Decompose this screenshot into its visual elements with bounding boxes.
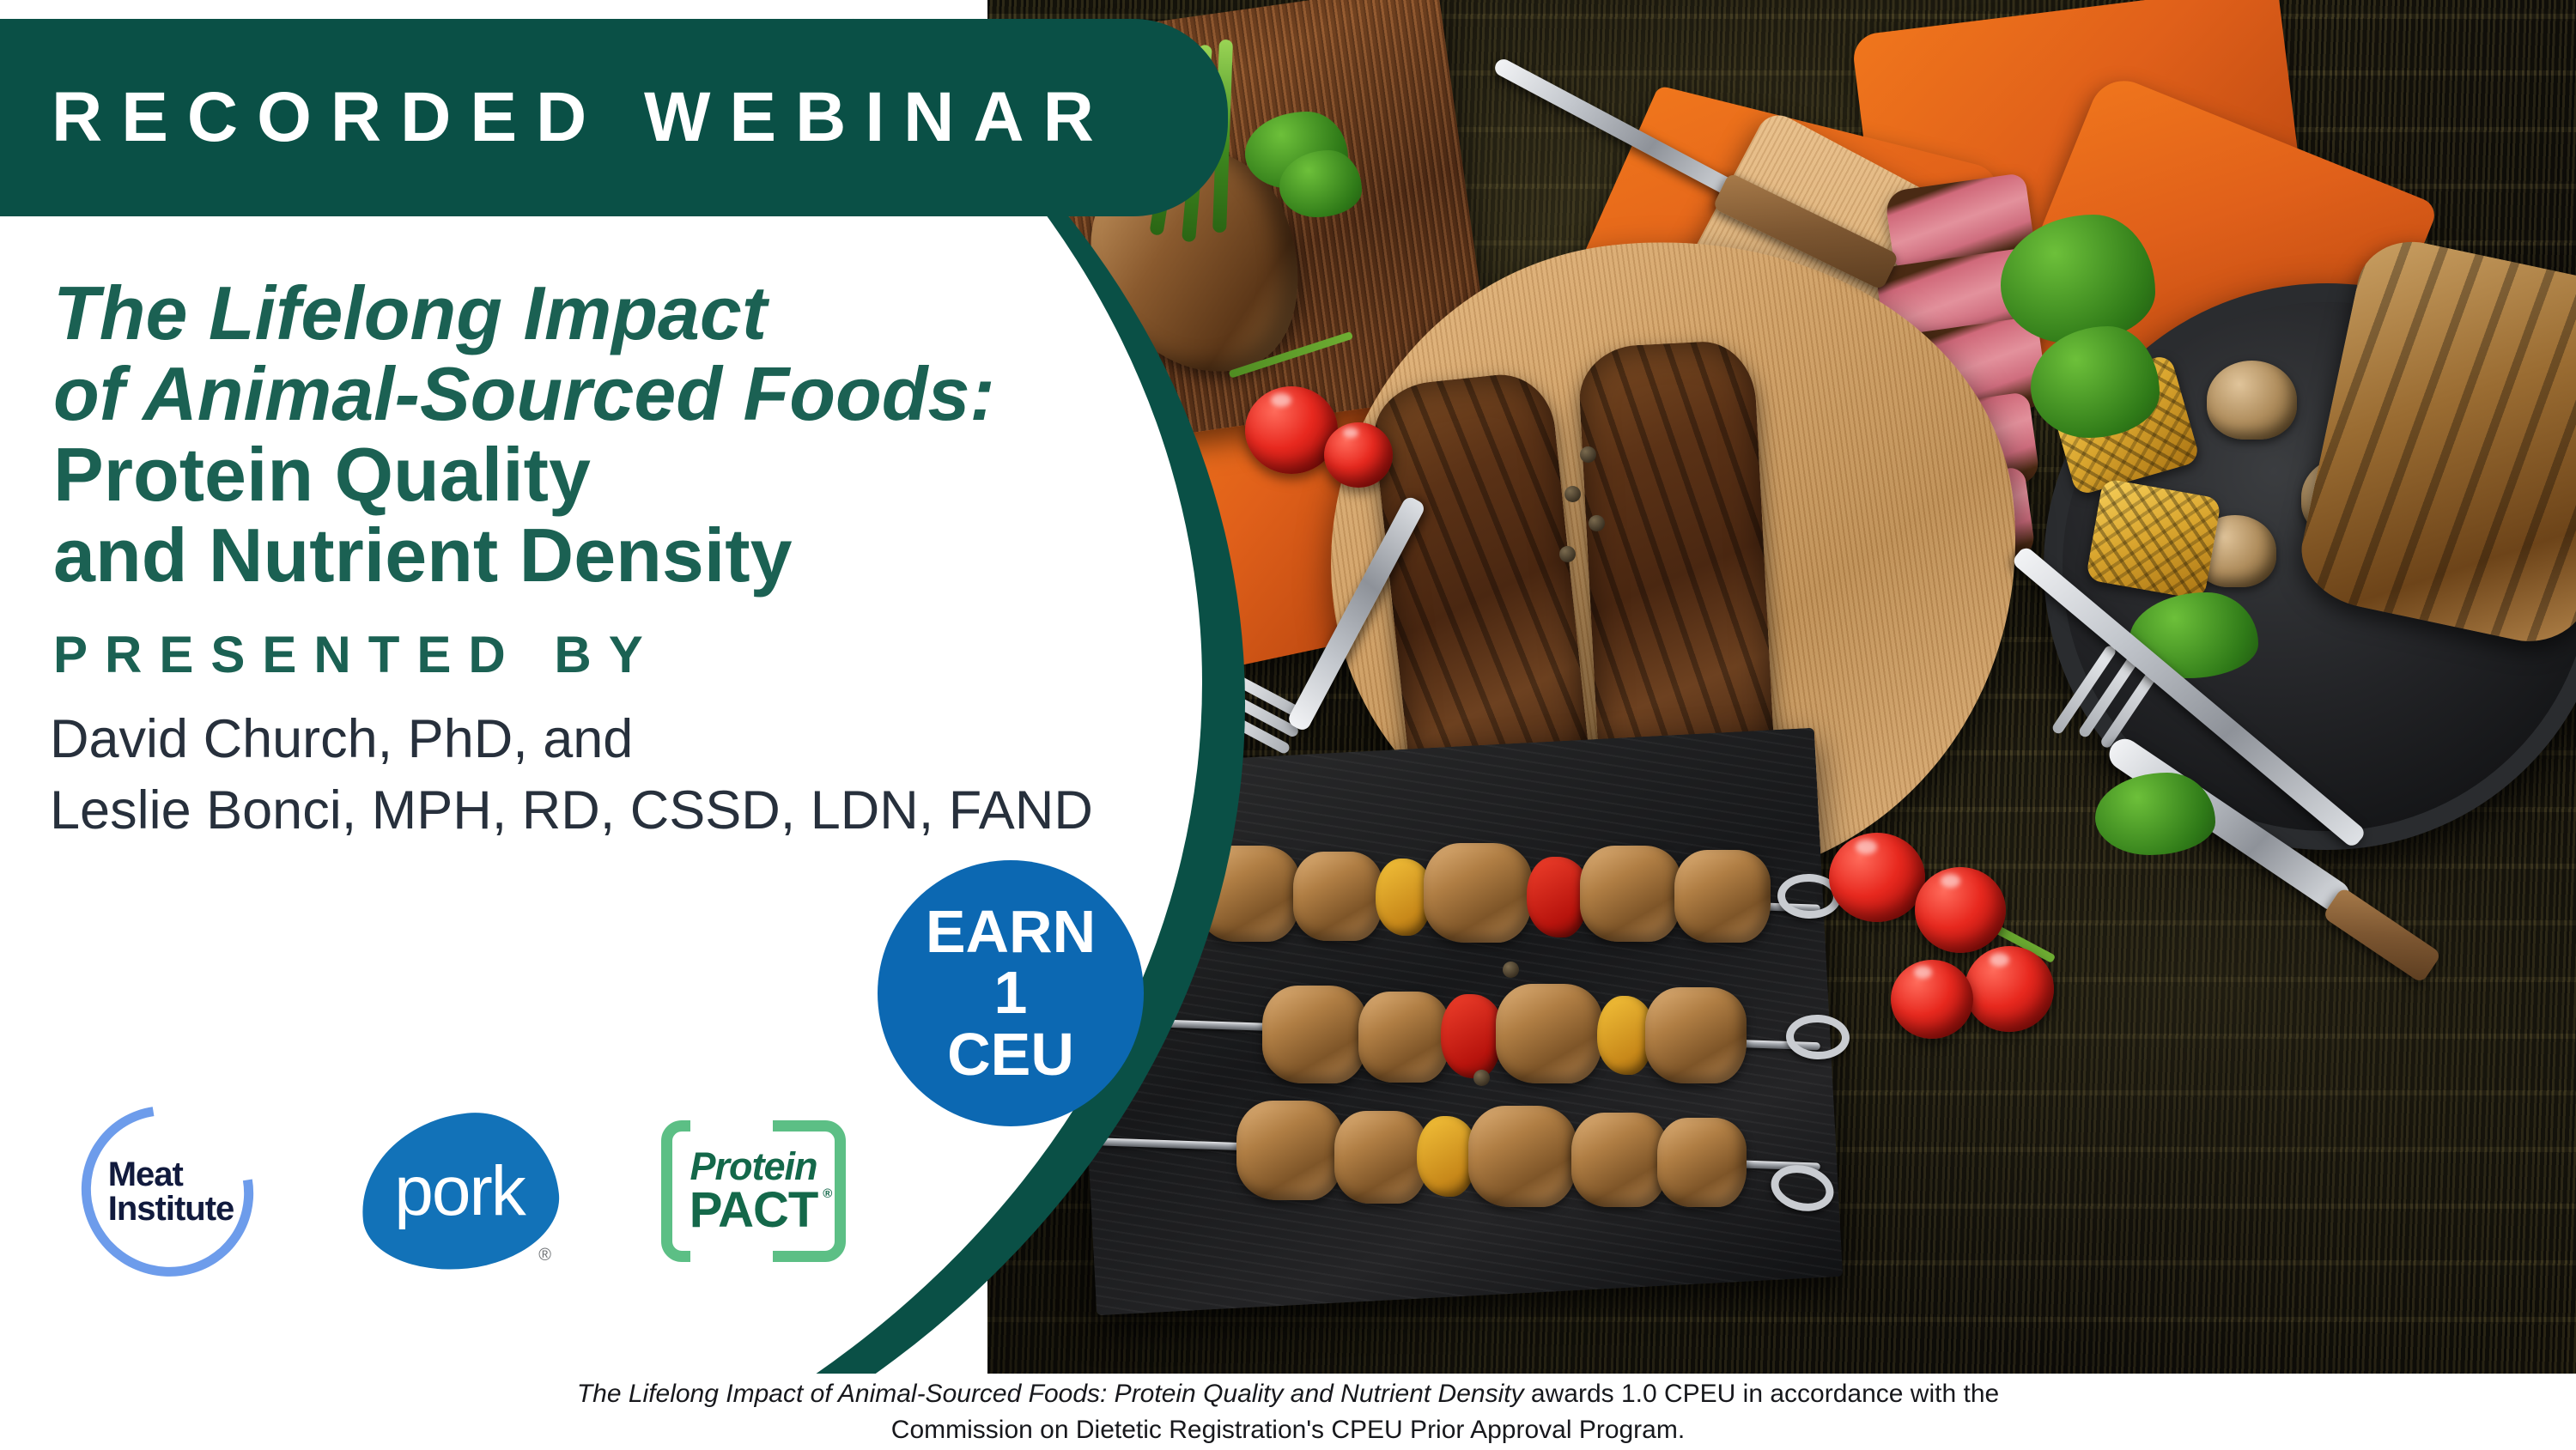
webinar-promo-poster: RECORDED WEBINAR The Lifelong Impact of … [0, 0, 2576, 1450]
cherry-tomato [1915, 867, 2006, 953]
recorded-webinar-banner: RECORDED WEBINAR [0, 19, 1228, 216]
peppercorn [1589, 515, 1605, 531]
title-line-1: The Lifelong Impact [53, 273, 1170, 354]
kebab-meat-chunk [1674, 850, 1771, 943]
peppercorn [1473, 1070, 1490, 1086]
peppercorn [1580, 446, 1596, 463]
recorded-webinar-label: RECORDED WEBINAR [52, 77, 1113, 158]
pork-wordmark: pork [361, 1151, 558, 1232]
ceu-badge-line-2: 1 [994, 962, 1028, 1023]
protein-pact-logo: Protein PACT ® [661, 1120, 846, 1262]
page-title: The Lifelong Impact of Animal-Sourced Fo… [53, 273, 1170, 597]
kebab-meat-chunk [1334, 1111, 1427, 1204]
kebab-meat-chunk [1645, 987, 1747, 1083]
grilled-steak [1577, 339, 1777, 794]
footer-disclaimer: The Lifelong Impact of Animal-Sourced Fo… [0, 1374, 2576, 1450]
kebab-meat-chunk [1468, 1106, 1577, 1207]
protein-pact-line-1: Protein [690, 1147, 817, 1186]
kebab-meat-chunk [1657, 1118, 1747, 1207]
speaker-1: David Church, PhD, and [50, 704, 1166, 775]
peppercorn [1559, 546, 1576, 562]
footer-title-italic: The Lifelong Impact of Animal-Sourced Fo… [577, 1380, 1524, 1408]
peppercorn [1564, 486, 1581, 502]
kebab-meat-chunk [1236, 1101, 1343, 1200]
meat-institute-line-1: Meat [108, 1157, 234, 1192]
cherry-tomato [1829, 833, 1925, 922]
speaker-2: Leslie Bonci, MPH, RD, CSSD, LDN, FAND [50, 775, 1166, 846]
sponsor-logos: Meat Institute pork ® Protein PACT ® [77, 1103, 846, 1279]
meat-institute-logo: Meat Institute [77, 1103, 258, 1279]
kebab-meat-chunk [1358, 992, 1449, 1083]
ceu-badge-line-1: EARN [926, 901, 1096, 962]
ceu-badge: EARN 1 CEU [878, 860, 1144, 1126]
kebab-meat-chunk [1424, 843, 1532, 943]
grilled-corn [2086, 478, 2222, 600]
poster-content: RECORDED WEBINAR The Lifelong Impact of … [0, 0, 1245, 1374]
meat-institute-line-2: Institute [108, 1192, 234, 1226]
kebab-meat-chunk [1580, 846, 1681, 942]
presented-by-label: PRESENTED BY [53, 625, 660, 684]
title-line-2: of Animal-Sourced Foods: [53, 354, 1170, 434]
footer-line-2: Commission on Dietetic Registration's CP… [891, 1412, 1685, 1448]
cherry-tomato [1965, 946, 2054, 1032]
protein-pact-word: PACT [690, 1182, 818, 1238]
protein-pact-trademark-icon: ® [823, 1187, 831, 1200]
pork-logo: pork ® [361, 1114, 558, 1269]
footer-line-1-rest: awards 1.0 CPEU in accordance with the [1524, 1380, 2000, 1408]
pork-trademark-icon: ® [538, 1246, 551, 1265]
peppercorn [1503, 962, 1519, 978]
footer-line-1: The Lifelong Impact of Animal-Sourced Fo… [577, 1376, 1999, 1412]
kebab-meat-chunk [1496, 984, 1602, 1083]
protein-pact-line-2: PACT ® [690, 1186, 818, 1235]
kebab-meat-chunk [1293, 852, 1382, 941]
title-line-3: Protein Quality [53, 434, 1170, 515]
kebab-meat-chunk [1262, 986, 1367, 1083]
kebab-meat-chunk [1571, 1113, 1668, 1207]
ceu-badge-line-3: CEU [947, 1024, 1074, 1085]
grilled-mushroom [2207, 361, 2297, 440]
title-line-4: and Nutrient Density [53, 515, 1170, 596]
kebab-red-pepper [1441, 994, 1503, 1078]
speakers-list: David Church, PhD, and Leslie Bonci, MPH… [50, 704, 1166, 846]
cherry-tomato [1891, 960, 1973, 1039]
